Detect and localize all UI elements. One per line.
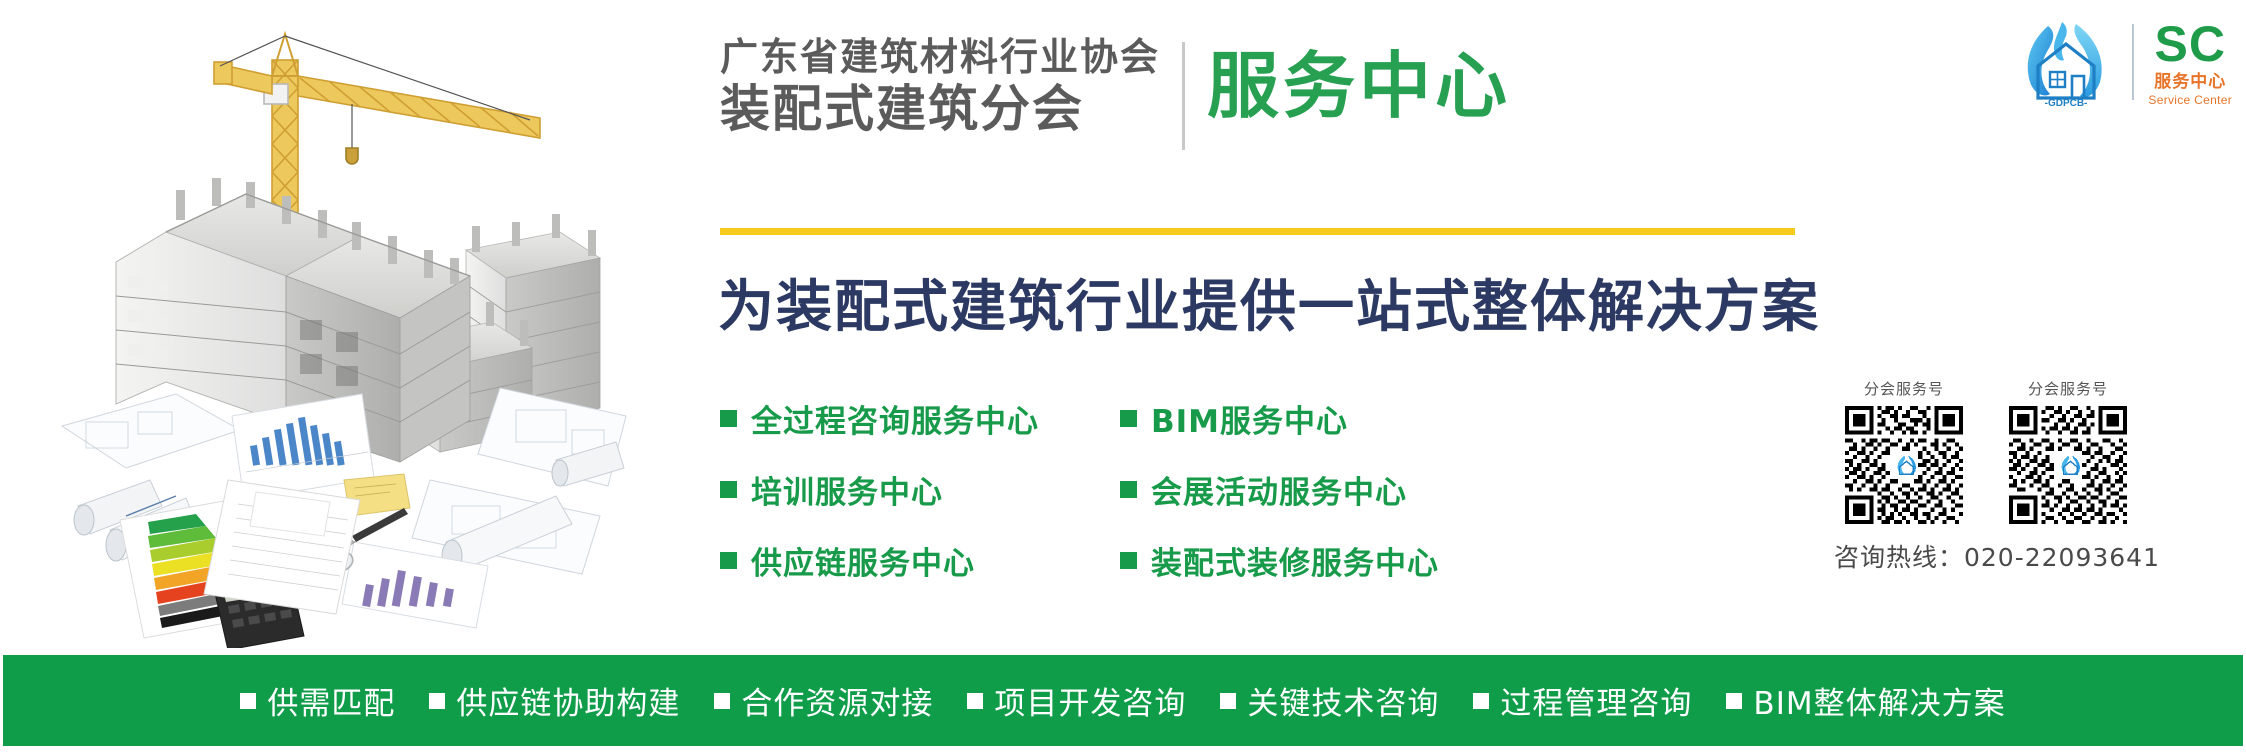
hotline-text: 咨询热线：020-22093641 [1834, 538, 2216, 574]
square-bullet-icon [240, 693, 256, 709]
footer-tag-label: 合作资源对接 [741, 678, 933, 723]
square-bullet-icon [720, 552, 737, 569]
square-bullet-icon [1220, 693, 1236, 709]
service-item[interactable]: 会展活动服务中心 [1120, 467, 1439, 512]
service-list: 全过程咨询服务中心 BIM服务中心 培训服务中心 会展活动服务中心 供应链服务中… [720, 396, 1439, 583]
square-bullet-icon [1120, 410, 1137, 427]
square-bullet-icon [1726, 693, 1742, 709]
banner-content: -GDPCB- SC 服务中心 Service Center 广东省建筑材料行业… [660, 0, 2246, 648]
association-line2: 装配式建筑分会 [720, 81, 1160, 137]
qr-contact-panel: 分会服务号 [1834, 378, 2216, 574]
footer-tag[interactable]: 关键技术咨询 [1220, 678, 1439, 723]
qr-label: 分会服务号 [2028, 378, 2108, 399]
service-center-logo: SC 服务中心 Service Center [2148, 19, 2232, 106]
hero-construction-image [0, 0, 660, 648]
square-bullet-icon [1473, 693, 1489, 709]
brand-logo: -GDPCB- SC 服务中心 Service Center [2014, 16, 2232, 108]
sc-chinese-label: 服务中心 [2154, 74, 2226, 91]
footer-tag-label: 关键技术咨询 [1247, 678, 1439, 723]
service-item[interactable]: 培训服务中心 [720, 467, 1120, 512]
gdpcb-house-flame-emblem-icon: -GDPCB- [2014, 16, 2118, 108]
square-bullet-icon [714, 693, 730, 709]
footer-tag-label: 供需匹配 [267, 678, 395, 723]
service-item[interactable]: 全过程咨询服务中心 [720, 396, 1120, 441]
front-forms-group [0, 400, 660, 648]
service-center-heading: 服务中心 [1207, 40, 1511, 134]
service-item[interactable]: 供应链服务中心 [720, 538, 1120, 583]
footer-tag-label: 供应链协助构建 [456, 678, 680, 723]
qr-cell: 分会服务号 [1834, 378, 1974, 524]
qr-code-icon[interactable] [1845, 406, 1963, 524]
footer-tag[interactable]: 供需匹配 [240, 678, 395, 723]
footer-tag-label: 过程管理咨询 [1500, 678, 1692, 723]
footer-tag[interactable]: 合作资源对接 [714, 678, 933, 723]
sc-english-label: Service Center [2148, 94, 2232, 106]
service-item-label: 装配式装修服务中心 [1151, 538, 1439, 583]
qr-label: 分会服务号 [1864, 378, 1944, 399]
qr-cell: 分会服务号 [1998, 378, 2138, 524]
service-item-label: 全过程咨询服务中心 [751, 396, 1039, 441]
service-item[interactable]: BIM服务中心 [1120, 396, 1439, 441]
gold-divider [720, 228, 1795, 235]
service-item-label: BIM服务中心 [1151, 396, 1348, 441]
footer-tag-bar: 供需匹配 供应链协助构建 合作资源对接 项目开发咨询 关键技术咨询 过程管理咨询… [3, 655, 2243, 746]
footer-tag[interactable]: 项目开发咨询 [967, 678, 1186, 723]
footer-tag[interactable]: 过程管理咨询 [1473, 678, 1692, 723]
qr-code-icon[interactable] [2009, 406, 2127, 524]
square-bullet-icon [429, 693, 445, 709]
square-bullet-icon [720, 410, 737, 427]
service-item-label: 会展活动服务中心 [1151, 467, 1407, 512]
association-name: 广东省建筑材料行业协会 装配式建筑分会 [720, 36, 1160, 137]
hero-stage [0, 0, 660, 648]
title-separator [1182, 42, 1185, 150]
promo-banner: -GDPCB- SC 服务中心 Service Center 广东省建筑材料行业… [0, 0, 2246, 752]
service-item-label: 培训服务中心 [751, 467, 943, 512]
service-item-label: 供应链服务中心 [751, 538, 975, 583]
main-slogan: 为装配式建筑行业提供一站式整体解决方案 [718, 262, 1820, 343]
association-line1: 广东省建筑材料行业协会 [720, 36, 1160, 79]
square-bullet-icon [1120, 481, 1137, 498]
sc-letters: SC [2154, 19, 2225, 69]
logo-divider [2132, 24, 2134, 100]
square-bullet-icon [967, 693, 983, 709]
qr-row: 分会服务号 [1834, 378, 2216, 524]
header-title-row: 广东省建筑材料行业协会 装配式建筑分会 服务中心 [720, 36, 1511, 150]
footer-tag-label: 项目开发咨询 [994, 678, 1186, 723]
square-bullet-icon [720, 481, 737, 498]
footer-tag-label: BIM整体解决方案 [1753, 678, 2005, 723]
footer-tag[interactable]: 供应链协助构建 [429, 678, 680, 723]
footer-tag[interactable]: BIM整体解决方案 [1726, 678, 2005, 723]
svg-text:-GDPCB-: -GDPCB- [2045, 98, 2088, 108]
square-bullet-icon [1120, 552, 1137, 569]
service-item[interactable]: 装配式装修服务中心 [1120, 538, 1439, 583]
